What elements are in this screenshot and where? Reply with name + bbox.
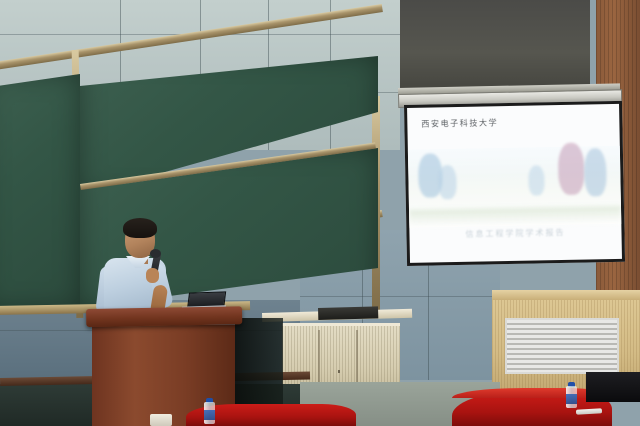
wall-air-vent	[505, 318, 619, 374]
chalkboard-assembly	[0, 56, 386, 324]
podium-top	[86, 306, 242, 327]
slide-photo	[408, 146, 621, 228]
ceiling-recess	[400, 0, 590, 96]
dark-furniture-right	[586, 372, 640, 402]
water-bottle	[204, 398, 215, 424]
chalkboard-panel-left	[0, 74, 80, 310]
slide-title: 西安电子科技大学	[421, 117, 498, 129]
water-bottle	[566, 382, 577, 408]
console-equipment-box	[318, 306, 378, 320]
projection-screen: 西安电子科技大学 信息工程学院学术报告	[404, 101, 625, 266]
paper-on-table	[150, 414, 172, 426]
lecture-hall-photo: 西安电子科技大学 信息工程学院学术报告	[0, 0, 640, 426]
slide-subtitle: 信息工程学院学术报告	[409, 226, 621, 241]
